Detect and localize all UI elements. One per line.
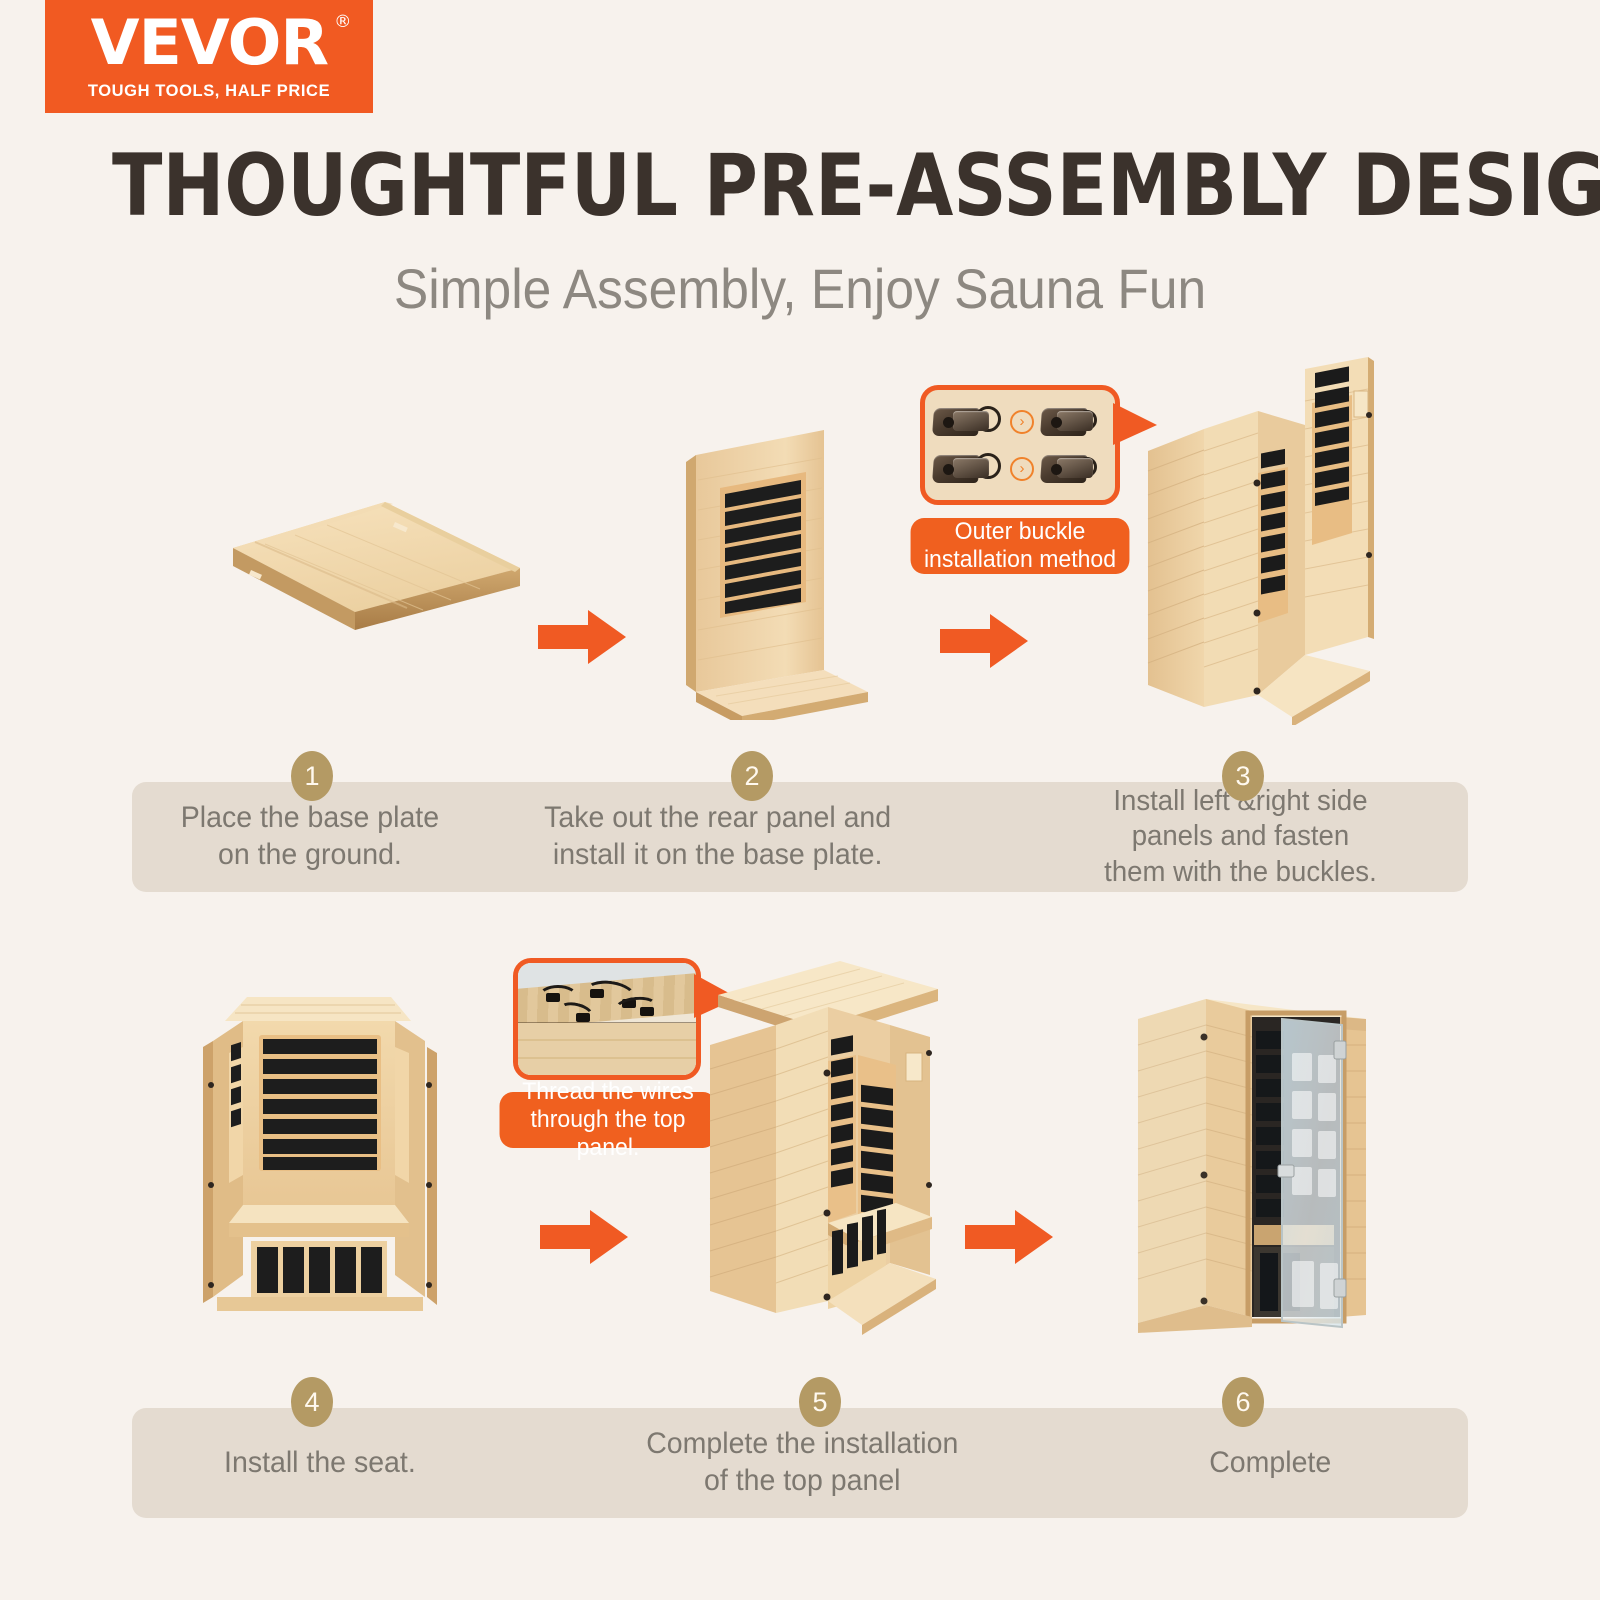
step-badge-5: 5 — [799, 1377, 841, 1427]
wires-photo — [518, 963, 696, 1075]
figure-base-plate — [155, 490, 525, 630]
wires-image-frame — [513, 958, 701, 1080]
callout-wires-label: Thread the wires through the top panel. — [500, 1092, 717, 1148]
figure-rear-panel-on-base — [672, 420, 872, 720]
caption-bar-row2: Install the seat. Complete the installat… — [132, 1408, 1468, 1518]
caption-cell-step6: Complete — [1072, 1408, 1468, 1518]
callout-thread-wires: Thread the wires through the top panel. — [513, 958, 701, 1080]
brand-wordmark: VEVOR ® — [90, 12, 327, 74]
caption-text-step2: Take out the rear panel and install it o… — [535, 800, 901, 873]
arrow-step4-to-step5 — [540, 1208, 628, 1266]
arrow-step5-to-step6 — [965, 1208, 1053, 1266]
step-badge-4: 4 — [291, 1377, 333, 1427]
figure-finished-sauna — [1120, 975, 1380, 1335]
caption-cell-step2: Take out the rear panel and install it o… — [488, 782, 948, 892]
caption-text-step6: Complete — [1200, 1445, 1341, 1482]
step-badge-3: 3 — [1222, 751, 1264, 801]
buckle-closed-2 — [1039, 449, 1113, 489]
step-badge-2: 2 — [731, 751, 773, 801]
buckle-open-2 — [931, 449, 1005, 489]
callout-buckle-label: Outer buckle installation method — [911, 518, 1130, 574]
arrow-step2-to-step3 — [940, 612, 1028, 670]
buckle-closed-1 — [1039, 402, 1113, 442]
figure-top-panel-exploded — [700, 945, 950, 1340]
step-badge-1: 1 — [291, 751, 333, 801]
buckle-grid: › › — [925, 390, 1115, 500]
chevron-right-icon-2: › — [1010, 457, 1034, 481]
arrow-step1-to-step2 — [538, 608, 626, 666]
infographic-page: VEVOR ® TOUGH TOOLS, HALF PRICE THOUGHTF… — [0, 0, 1600, 1600]
buckle-open-1 — [931, 402, 1005, 442]
page-subtitle: Simple Assembly, Enjoy Sauna Fun — [64, 258, 1536, 320]
caption-bar-row1: Place the base plate on the ground. Take… — [132, 782, 1468, 892]
vevor-logo: VEVOR ® TOUGH TOOLS, HALF PRICE — [45, 0, 373, 113]
brand-tagline: TOUGH TOOLS, HALF PRICE — [88, 82, 330, 101]
caption-text-step5: Complete the installation of the top pan… — [636, 1426, 967, 1499]
registered-mark: ® — [334, 14, 350, 31]
figure-side-panels-installed — [1140, 355, 1380, 725]
callout-outer-buckle: › › Outer buckle installation method — [920, 385, 1120, 505]
page-title: THOUGHTFUL PRE-ASSEMBLY DESIGN — [112, 143, 1488, 229]
chevron-right-icon: › — [1010, 410, 1034, 434]
brand-name: VEVOR — [90, 6, 327, 79]
step-badge-6: 6 — [1222, 1377, 1264, 1427]
caption-cell-step5: Complete the installation of the top pan… — [572, 1408, 1032, 1518]
caption-text-step4: Install the seat. — [215, 1445, 426, 1482]
figure-seat-installed-front-view — [195, 975, 445, 1315]
caption-text-step1: Place the base plate on the ground. — [171, 800, 448, 873]
buckle-image-frame: › › — [920, 385, 1120, 505]
